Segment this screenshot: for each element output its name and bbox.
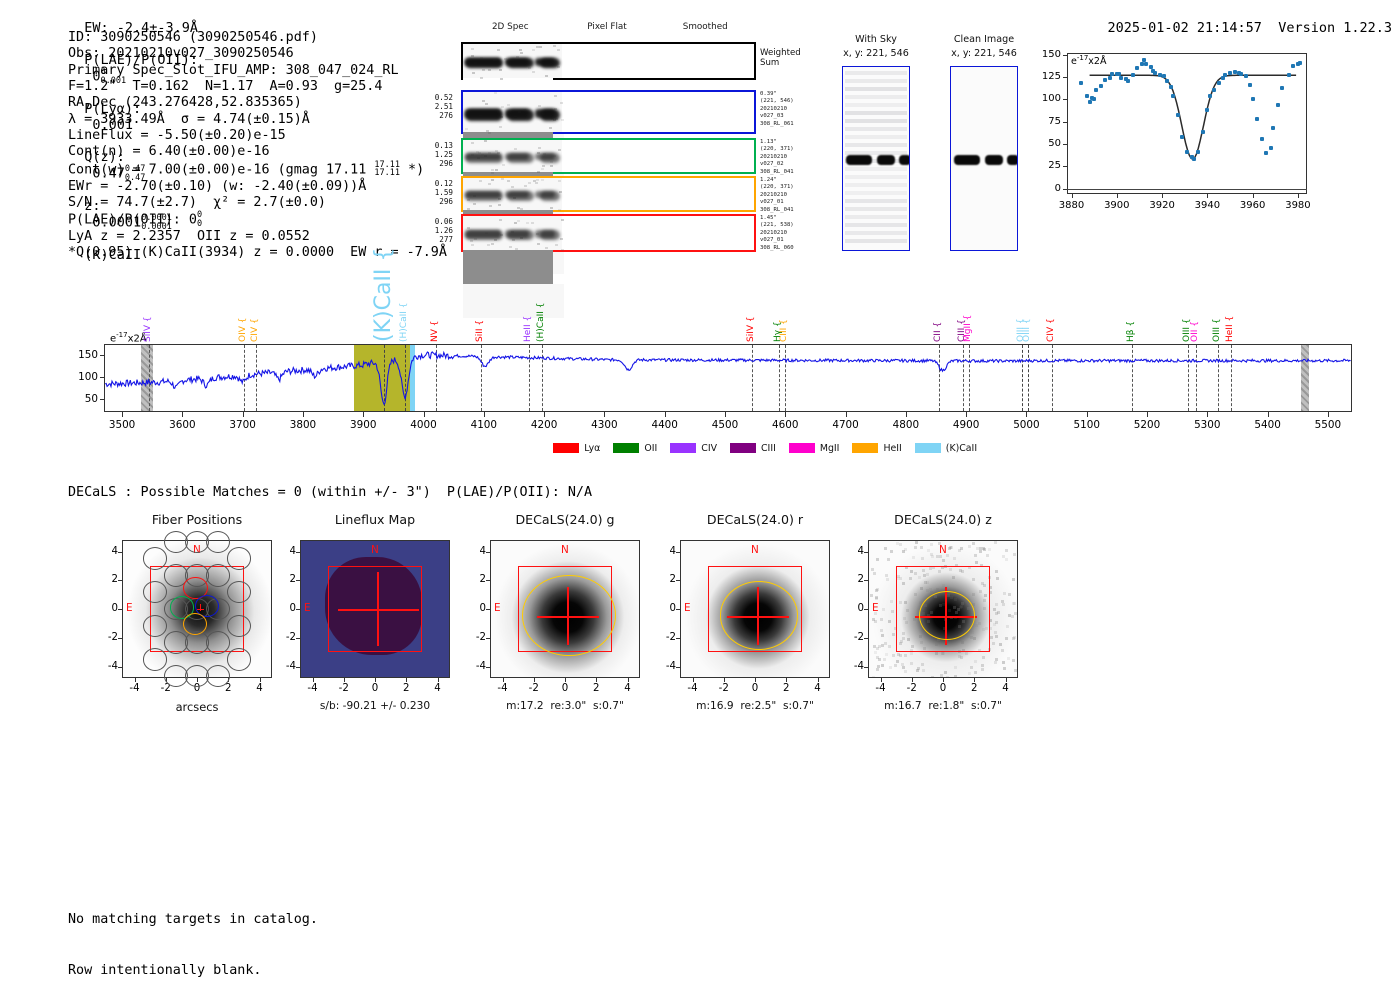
info-line-12: P(LAE)/P(OII): 000 [68, 211, 447, 229]
x-tick [725, 412, 726, 417]
noise-px [884, 547, 887, 550]
legend-label-CIV: CIV [701, 443, 717, 454]
masked-band-0 [141, 345, 153, 411]
panel-y-tick [296, 609, 300, 610]
noise-px [930, 543, 933, 546]
noise-px [885, 653, 888, 656]
noise-px [974, 671, 977, 674]
noise-px [873, 572, 876, 575]
line-marker-NV [436, 345, 437, 411]
legend-item-CIV: CIV [670, 443, 717, 454]
data-point [1185, 150, 1189, 154]
x-tick-label: 4700 [822, 419, 870, 431]
row-value: 276 [417, 111, 453, 120]
x-tick-label: 4200 [520, 419, 568, 431]
noise-px [949, 546, 952, 549]
line-label-OII: OII { [1191, 290, 1200, 342]
noise [486, 130, 489, 132]
row-value: 0.06 [417, 217, 453, 226]
noise-px [890, 600, 893, 603]
legend-label-Lyα: Lyα [584, 443, 600, 454]
data-point [1153, 71, 1157, 75]
x-tick [544, 412, 545, 417]
x-tick [1072, 194, 1073, 198]
noise [514, 148, 517, 150]
compass-n-4: N [939, 544, 947, 556]
noise-px [899, 543, 902, 546]
x-tick [182, 412, 183, 417]
panel-y-tick [486, 638, 490, 639]
panel-x-tick [344, 678, 345, 682]
line-label-OIV: OIV { [239, 306, 248, 342]
noise-px [904, 548, 907, 551]
panel-caption-4: m:16.7 re:1.8" s:0.7" [842, 700, 1044, 712]
sky-row [845, 103, 907, 107]
noise [557, 49, 560, 51]
montage-row-values-2: 0.121.59296 [417, 179, 453, 207]
noise [555, 244, 558, 246]
x-tick-label: 5000 [1002, 419, 1050, 431]
panel-y-tick [864, 667, 868, 668]
noise-px [901, 663, 904, 666]
noise [470, 240, 473, 242]
panel-x-tick-label: -4 [487, 683, 519, 694]
noise-px [993, 608, 996, 611]
cutout-title-1: Clean Image [936, 34, 1032, 45]
noise-px [883, 658, 886, 661]
noise [499, 219, 502, 221]
x-tick-label: 3980 [1276, 200, 1320, 211]
panel-x-tick-label: 2 [390, 683, 422, 694]
noise [467, 227, 470, 229]
sky-row [845, 79, 907, 83]
image-cutouts: With Skyx, y: 221, 546Clean Imagex, y: 2… [828, 34, 1028, 254]
noise-px [880, 618, 883, 621]
row-meta: 20210210 [760, 106, 820, 113]
legend-label-HeII: HeII [883, 443, 901, 454]
info-line-10: EWr = -2.70(±0.10) (w: -2.40(±0.09))Å [68, 179, 447, 195]
panel-y-tick [676, 580, 680, 581]
panel-y-tick-label: 2 [460, 574, 486, 585]
row-meta: 1.24" [760, 177, 820, 184]
noise-px [894, 664, 897, 667]
y-tick-label: 50 [1035, 138, 1061, 149]
noise-px [1005, 549, 1008, 552]
info-line-3: Primary Spec_Slot_IFU_AMP: 308_047_024_R… [68, 63, 447, 79]
noise-px [881, 634, 884, 637]
line-label-CIV: CIV { [251, 306, 260, 342]
noise-px [1001, 649, 1004, 652]
noise-px [995, 635, 998, 638]
noise-px [872, 676, 875, 678]
data-point [1079, 81, 1083, 85]
data-point [1099, 84, 1103, 88]
noise-px [970, 666, 973, 669]
noise-px [921, 557, 924, 560]
panel-y-tick [296, 638, 300, 639]
panel-y-tick [296, 552, 300, 553]
noise-px [871, 568, 874, 571]
source-trace [846, 155, 872, 165]
noise-px [1014, 612, 1017, 615]
noise-px [880, 629, 883, 632]
noise [471, 244, 474, 246]
data-point [1248, 83, 1252, 87]
data-point [1269, 146, 1273, 150]
noise [535, 182, 538, 184]
sky-row [845, 215, 907, 219]
legend-swatch-Lyα [553, 443, 579, 453]
noise-px [993, 623, 996, 626]
noise [488, 183, 491, 185]
x-tick-label: 4800 [882, 419, 930, 431]
y-tick [100, 355, 104, 356]
noise-px [968, 545, 971, 548]
noise-px [887, 558, 890, 561]
noise-px [995, 570, 998, 573]
info-line-13: LyA z = 2.2357 OII z = 0.0552 [68, 229, 447, 245]
panel-y-tick [676, 552, 680, 553]
noise-px [896, 660, 899, 663]
data-point [1239, 72, 1243, 76]
panel-y-tick [486, 580, 490, 581]
panel-y-tick-label: -2 [838, 632, 864, 643]
target-info-block: ID: 3090250546 (3090250546.pdf)Obs: 2021… [68, 30, 447, 262]
noise [491, 179, 494, 181]
y-tick [1063, 99, 1067, 100]
panel-y-tick-label: -4 [838, 661, 864, 672]
x-tick-label: 4300 [580, 419, 628, 431]
panel-y-tick [296, 667, 300, 668]
noise-px [892, 654, 895, 657]
noise-px [1013, 553, 1016, 556]
gmag-bounds: 17.1117.11 [374, 161, 400, 178]
y-tick-label: 25 [1035, 160, 1061, 171]
row-meta: v027_01 [760, 237, 820, 244]
panel-y-tick [676, 609, 680, 610]
line-label-HeII: HeII { [1226, 306, 1235, 342]
x-tick-label: 3500 [98, 419, 146, 431]
noise [482, 100, 485, 102]
row-value: 0.52 [417, 93, 453, 102]
panel-x-tick-label: -2 [328, 683, 360, 694]
decals-panel-row: Fiber Positions-4-4-2-2002244NEarcsecsLi… [60, 512, 1360, 722]
noise-px [940, 674, 943, 677]
noise-px [972, 542, 975, 545]
info-line-9: Cont(w) = 7.00(±0.00)e-16 (gmag 17.11 17… [68, 161, 447, 179]
y-tick-label: 0 [1035, 183, 1061, 194]
line-label-(K)CaII: (K)CaII { [373, 262, 395, 342]
panel-x-tick [565, 678, 566, 682]
noise [491, 169, 494, 171]
info-line-1: ID: 3090250546 (3090250546.pdf) [68, 30, 447, 46]
x-tick-label: 5500 [1304, 419, 1352, 431]
noise [509, 246, 512, 248]
noise-px [1012, 578, 1015, 581]
noise [542, 165, 545, 167]
noise-px [920, 546, 923, 549]
noise-px [876, 668, 879, 671]
noise [499, 126, 502, 128]
panel-y-tick-label: 2 [270, 574, 296, 585]
panel-y-tick [118, 667, 122, 668]
noise-px [946, 676, 949, 678]
x-tick-label: 5100 [1063, 419, 1111, 431]
y-tick [100, 399, 104, 400]
noise-px [1002, 603, 1005, 606]
noise [498, 204, 501, 206]
panel-x-tick-label: -4 [677, 683, 709, 694]
sky-row [845, 175, 907, 179]
noise [545, 247, 548, 249]
panel-y-tick [864, 638, 868, 639]
line-marker-CIV [1052, 345, 1053, 411]
noise [499, 69, 502, 71]
noise-px [875, 589, 878, 592]
panel-y-tick [676, 667, 680, 668]
noise-px [979, 550, 982, 553]
cutout-title-0: With Sky [828, 34, 924, 45]
panel-y-tick-label: -2 [270, 632, 296, 643]
noise [507, 104, 510, 106]
line-marker-HeII [1231, 345, 1232, 411]
panel-x-tick [596, 678, 597, 682]
montage-strip-3 [461, 214, 756, 252]
info-line-8: Cont(n) = 6.40(±0.00)e-16 [68, 144, 447, 160]
y-tick-label: 150 [60, 349, 98, 361]
sky-row [845, 119, 907, 123]
line-label-CII: CII { [934, 306, 943, 342]
zero-line [1067, 189, 1307, 190]
line-label-SiIV: SiIV { [747, 306, 756, 342]
x-tick-label: 5400 [1244, 419, 1292, 431]
noise-px [1008, 614, 1011, 617]
panel-x-tick [375, 678, 376, 682]
noise [526, 222, 529, 224]
panel-x-tick-label: 0 [359, 683, 391, 694]
noise-px [1012, 602, 1015, 605]
line-marker-SiIV [149, 345, 150, 411]
x-tick [966, 412, 967, 417]
x-tick [1162, 194, 1163, 198]
source-trace [877, 155, 895, 165]
noise-px [876, 647, 879, 650]
noise-px [1002, 661, 1005, 664]
masked-band-1 [1301, 345, 1309, 411]
noise [554, 95, 557, 97]
line-marker-Hγ [779, 345, 780, 411]
line-label-(H)CaII: (H)CaII { [400, 290, 409, 342]
noise-px [996, 577, 999, 580]
panel-y-tick-label: 2 [92, 574, 118, 585]
noise-px [891, 610, 894, 613]
panel-y-tick-label: -4 [92, 661, 118, 672]
panel-y-tick [118, 609, 122, 610]
noise [537, 171, 540, 172]
noise [537, 243, 540, 245]
sky-row [845, 191, 907, 195]
panel-y-tick-label: 4 [650, 546, 676, 557]
noise-px [870, 594, 873, 597]
x-tick-label: 4000 [400, 419, 448, 431]
legend-swatch-CIII [730, 443, 756, 453]
legend-item-MgII: MgII [789, 443, 840, 454]
info-line-2: Obs: 20210210v027_3090250546 [68, 46, 447, 62]
x-tick [846, 412, 847, 417]
row-meta: (221, 538) [760, 222, 820, 229]
data-point [1251, 97, 1255, 101]
legend-swatch-MgII [789, 443, 815, 453]
panel-x-tick-label: 4 [990, 683, 1022, 694]
fiber-circle [143, 648, 167, 670]
sky-row [845, 207, 907, 211]
noise-px [994, 541, 997, 544]
data-point [1208, 94, 1212, 98]
row-value: 1.25 [417, 150, 453, 159]
compass-n-2: N [561, 544, 569, 556]
noise-px [944, 671, 947, 674]
noise-px [935, 652, 938, 655]
row-meta: 1.45" [760, 215, 820, 222]
noise-px [881, 644, 884, 647]
data-point [1165, 79, 1169, 83]
noise-px [882, 608, 885, 611]
noise [494, 92, 497, 94]
noise [504, 58, 507, 60]
x-tick [906, 412, 907, 417]
row-value: 2.51 [417, 102, 453, 111]
noise [491, 243, 494, 245]
y-tick-label: 100 [60, 371, 98, 383]
noise [524, 185, 527, 187]
sky-row [845, 143, 907, 147]
noise [559, 191, 562, 193]
sky-row [845, 199, 907, 203]
noise-px [878, 658, 881, 661]
line-marker-Hβ [1132, 345, 1133, 411]
noise-px [1008, 593, 1011, 596]
panel-y-tick-label: -2 [650, 632, 676, 643]
line-marker-OIV [244, 345, 245, 411]
row-value: 0.13 [417, 141, 453, 150]
noise-px [914, 546, 917, 549]
panel-x-tick [881, 678, 882, 682]
noise [560, 238, 562, 240]
noise [538, 105, 541, 107]
effective-radius-ellipse-4 [919, 591, 975, 640]
noise [501, 106, 504, 108]
noise-px [941, 652, 944, 655]
legend-swatch-(K)CaII [915, 443, 941, 453]
row-meta: 20210210 [760, 192, 820, 199]
noise-px [995, 658, 998, 661]
panel-caption-1: s/b: -90.21 +/- 0.230 [274, 700, 476, 712]
data-point [1126, 79, 1130, 83]
source-trace [1007, 155, 1018, 165]
full-spectrum-chart: 3500360037003800390040004100420043004400… [60, 262, 1360, 472]
montage-row-meta-2: 1.24"(220, 371)20210210v027_01308_RL_041 [760, 177, 820, 214]
x-tick-label: 3900 [1095, 200, 1139, 211]
compass-n-1: N [371, 544, 379, 556]
panel-x-tick [313, 678, 314, 682]
noise [479, 180, 482, 182]
noise-px [992, 642, 995, 645]
data-point [1264, 151, 1268, 155]
noise-px [982, 656, 985, 659]
weighted-sum-label: Weighted Sum [760, 48, 801, 68]
plae-lower: 0 [197, 220, 202, 229]
data-point [1085, 94, 1089, 98]
row-meta: (220, 371) [760, 184, 820, 191]
noise [489, 205, 492, 207]
noise-px [875, 596, 878, 599]
data-point [1176, 113, 1180, 117]
noise-px [979, 547, 982, 550]
panel-y-tick-label: 0 [460, 603, 486, 614]
line-label-(H)CaII: (H)CaII { [537, 290, 546, 342]
spectrum-legend: LyαOIICIVCIIIMgIIHeII(K)CaII [553, 438, 990, 457]
decals-summary: DECaLS : Possible Matches = 0 (within +/… [68, 485, 592, 500]
montage-strip-1 [461, 138, 756, 174]
noise [536, 179, 539, 181]
legend-label-OII: OII [644, 443, 657, 454]
noise-px [995, 603, 998, 606]
data-point [1244, 74, 1248, 78]
noise-px [930, 553, 933, 556]
noise [528, 182, 531, 184]
line-label-CIV: CIV { [1047, 306, 1056, 342]
row-value: 277 [417, 235, 453, 244]
panel-y-tick [864, 609, 868, 610]
panel-x-tick [786, 678, 787, 682]
x-tick [122, 412, 123, 417]
noise [550, 165, 553, 167]
noise [484, 140, 487, 142]
panel-x-tick [693, 678, 694, 682]
panel-y-tick-label: 0 [92, 603, 118, 614]
noise [532, 49, 535, 51]
panel-y-tick-label: 4 [838, 546, 864, 557]
noise-px [953, 557, 956, 560]
row-value: 296 [417, 197, 453, 206]
data-point [1192, 157, 1196, 161]
info-line-7: LineFlux = -5.50(±0.20)e-15 [68, 128, 447, 144]
legend-swatch-HeII [852, 443, 878, 453]
row-meta: 20210210 [760, 154, 820, 161]
noise [517, 207, 520, 209]
crosshair-h-1 [338, 609, 419, 611]
noise-px [994, 631, 997, 634]
caii-edge-band [410, 345, 415, 411]
header-timestamp-block: 2025-01-02 21:14:57 Version 1.22.3 [1091, 4, 1392, 36]
panel-x-tick-label: 4 [422, 683, 454, 694]
x-tick [1207, 194, 1208, 198]
y-tick [1063, 122, 1067, 123]
line-label-SiII: SiII { [476, 306, 485, 342]
noise-px [1005, 558, 1008, 561]
data-point [1228, 71, 1232, 75]
montage-row-meta-0: 0.39"(221, 546)20210210v027_03308_RL_061 [760, 91, 820, 128]
noise [553, 45, 556, 47]
x-tick [424, 412, 425, 417]
noise-px [1003, 592, 1006, 595]
spectrum-axes [104, 344, 1352, 412]
noise [488, 69, 491, 71]
noise [497, 49, 500, 51]
compass-e-3: E [684, 602, 691, 614]
row-meta: v027_02 [760, 161, 820, 168]
panel-y-tick [864, 552, 868, 553]
